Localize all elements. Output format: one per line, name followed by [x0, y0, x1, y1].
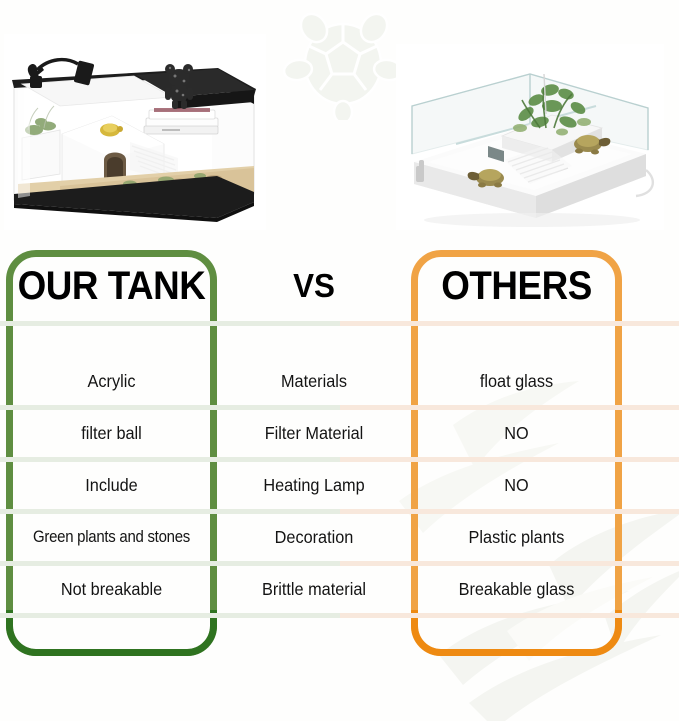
comparison-infographic: OUR TANK VS OTHERS Acrylic Materials flo…	[0, 0, 679, 721]
cell-ours: Not breakable	[13, 566, 209, 612]
cell-ours: Green plants and stones	[19, 514, 205, 560]
cell-others: NO	[418, 462, 614, 508]
cell-feature: Materials	[224, 358, 404, 404]
cell-others: NO	[418, 410, 614, 456]
row-divider	[0, 321, 679, 326]
table-row: Include Heating Lamp NO	[0, 462, 679, 508]
others-tank-photo	[396, 44, 664, 230]
row-divider-right	[340, 613, 679, 618]
turtle-watermark	[278, 2, 408, 120]
cell-others: float glass	[418, 358, 614, 404]
comparison-table: Acrylic Materials float glass filter bal…	[0, 250, 679, 656]
row-divider-left	[0, 321, 340, 326]
cell-feature: Brittle material	[224, 566, 404, 612]
cell-others: Breakable glass	[418, 566, 614, 612]
table-row: Acrylic Materials float glass	[0, 358, 679, 404]
cell-feature: Decoration	[224, 514, 404, 560]
table-row: Green plants and stones Decoration Plast…	[0, 514, 679, 560]
cell-feature: Heating Lamp	[224, 462, 404, 508]
cell-ours: filter ball	[13, 410, 209, 456]
cell-ours: Acrylic	[13, 358, 209, 404]
table-row: filter ball Filter Material NO	[0, 410, 679, 456]
row-divider	[0, 613, 679, 618]
cell-feature: Filter Material	[224, 410, 404, 456]
table-row: Not breakable Brittle material Breakable…	[0, 566, 679, 612]
row-divider-right	[340, 321, 679, 326]
cell-ours: Include	[13, 462, 209, 508]
our-tank-photo	[4, 34, 266, 230]
row-divider-left	[0, 613, 340, 618]
cell-others: Plastic plants	[418, 514, 614, 560]
